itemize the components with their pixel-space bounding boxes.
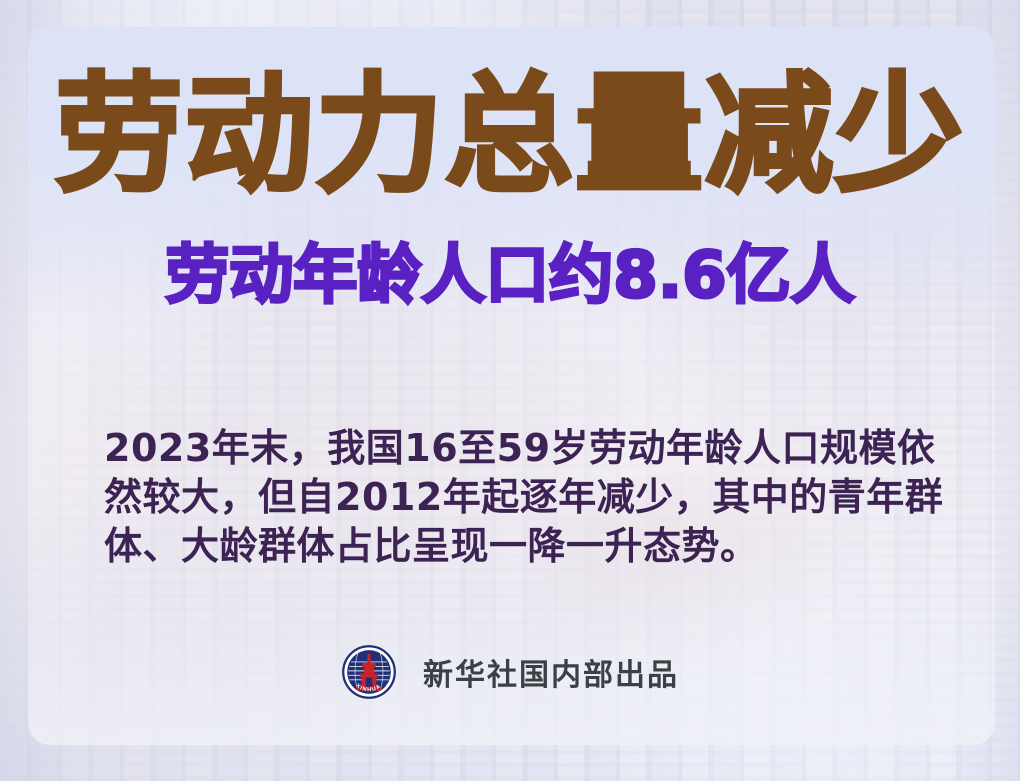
footer: XINHUA 新华社国内部出品 xyxy=(0,644,1020,700)
footer-credit: 新华社国内部出品 xyxy=(423,650,679,694)
body-paragraph: 2023年末，我国16至59岁劳动年龄人口规模依然较大，但自2012年起逐年减少… xyxy=(104,424,944,571)
xinhua-logo-icon: XINHUA xyxy=(341,644,397,700)
poster: 劳动力总量减少 劳动年龄人口约8.6亿人 2023年末，我国16至59岁劳动年龄… xyxy=(0,0,1020,781)
poster-content: 劳动力总量减少 劳动年龄人口约8.6亿人 2023年末，我国16至59岁劳动年龄… xyxy=(0,0,1020,781)
page-title: 劳动力总量减少 xyxy=(0,72,1020,200)
page-subtitle: 劳动年龄人口约8.6亿人 xyxy=(0,244,1020,308)
